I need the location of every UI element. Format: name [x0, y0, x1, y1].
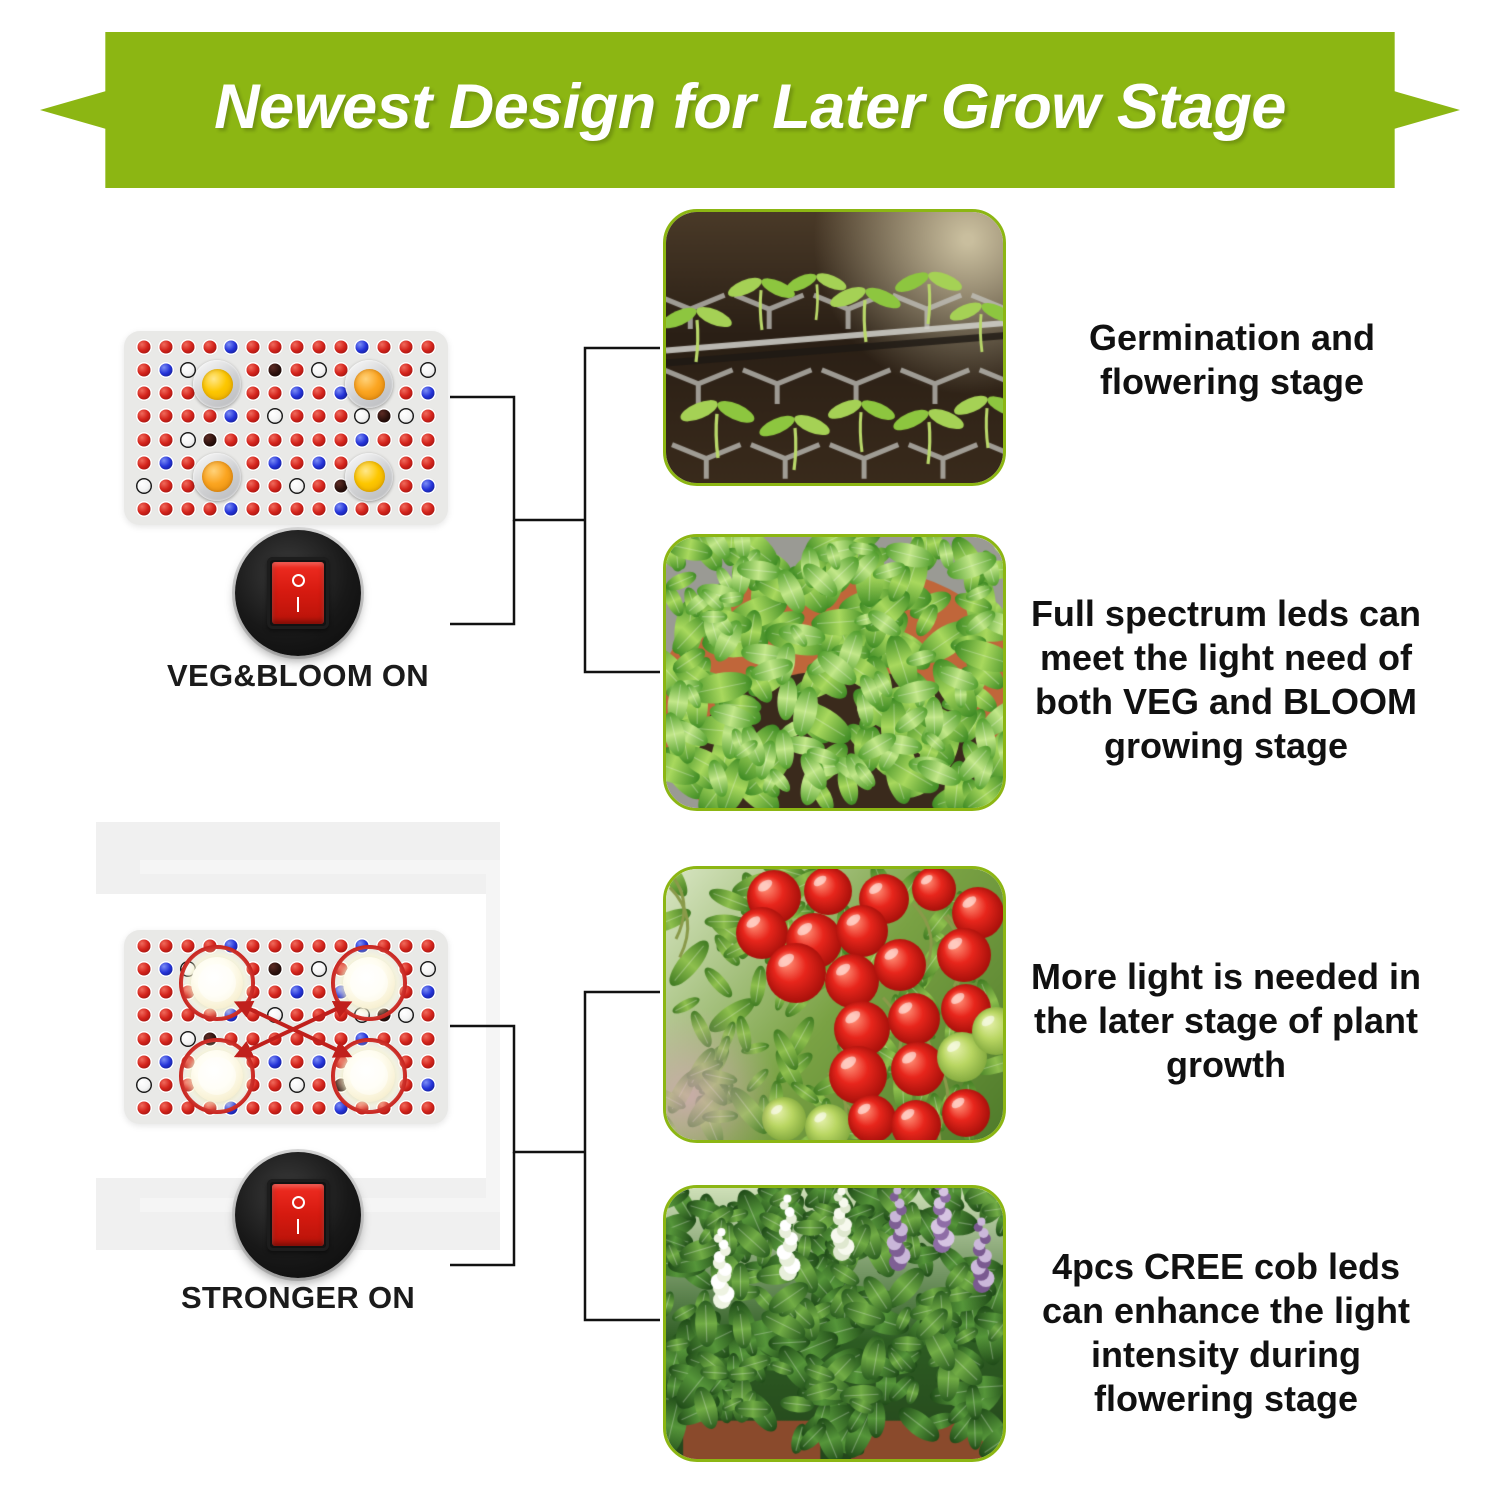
led-red — [290, 503, 303, 516]
led-red — [312, 387, 325, 400]
led-red — [312, 479, 325, 492]
led-red — [247, 387, 260, 400]
led-red — [400, 364, 413, 377]
led-red — [422, 433, 435, 446]
photo-basil-canvas — [666, 537, 1006, 811]
photo-seedlings — [663, 209, 1006, 486]
led-red — [422, 341, 435, 354]
led-red — [378, 341, 391, 354]
cob-led-emitter — [202, 369, 233, 400]
led-panel-stronger[interactable] — [124, 930, 448, 1124]
switch-label-veg-bloom: VEG&BLOOM ON — [167, 658, 429, 694]
led-red — [159, 410, 172, 423]
led-blue — [312, 456, 325, 469]
photo-tomato-canvas — [666, 869, 1006, 1143]
cob-led-emitter — [202, 461, 233, 492]
led-red — [247, 410, 260, 423]
led-blue — [290, 387, 303, 400]
led-red — [422, 410, 435, 423]
led-grid-veg-bloom — [124, 331, 448, 525]
led-white — [400, 410, 413, 423]
led-panel-veg-bloom[interactable] — [124, 331, 448, 525]
led-blue — [356, 433, 369, 446]
led-white — [269, 410, 282, 423]
led-red — [138, 364, 151, 377]
switch-on-icon — [297, 597, 300, 612]
led-white — [138, 479, 151, 492]
led-red — [290, 410, 303, 423]
led-red — [334, 341, 347, 354]
led-white — [290, 479, 303, 492]
led-red — [290, 456, 303, 469]
caption-more-light: More light is needed in the later stage … — [1016, 955, 1436, 1087]
led-red — [203, 341, 216, 354]
led-red — [269, 387, 282, 400]
led-red — [400, 503, 413, 516]
led-red — [269, 341, 282, 354]
switch-off-icon — [292, 1196, 305, 1209]
led-white — [422, 364, 435, 377]
led-red — [312, 410, 325, 423]
power-switch-veg-bloom[interactable]: VEG&BLOOM ON — [235, 530, 361, 656]
led-red — [378, 503, 391, 516]
led-white — [356, 410, 369, 423]
switch-rocker[interactable] — [272, 1184, 324, 1246]
led-red — [269, 503, 282, 516]
led-red — [400, 456, 413, 469]
power-switch-stronger[interactable]: STRONGER ON — [235, 1152, 361, 1278]
led-blue — [356, 341, 369, 354]
led-red — [138, 387, 151, 400]
led-red — [203, 503, 216, 516]
photo-flowering-basil — [663, 1185, 1006, 1462]
led-red — [269, 479, 282, 492]
led-white — [181, 433, 194, 446]
led-red — [247, 341, 260, 354]
cob-led-emitter — [354, 461, 385, 492]
led-red — [247, 364, 260, 377]
led-red — [247, 456, 260, 469]
switch-housing[interactable] — [267, 1179, 329, 1251]
led-red — [159, 433, 172, 446]
led-white — [181, 364, 194, 377]
led-red — [225, 433, 238, 446]
led-red — [138, 341, 151, 354]
led-red — [247, 433, 260, 446]
led-red — [159, 503, 172, 516]
led-red — [422, 456, 435, 469]
led-red — [312, 341, 325, 354]
led-blue — [159, 364, 172, 377]
led-red — [378, 433, 391, 446]
led-red — [334, 456, 347, 469]
led-blue — [269, 456, 282, 469]
led-red — [400, 479, 413, 492]
led-red — [181, 387, 194, 400]
cob-led — [193, 360, 241, 408]
led-red — [159, 341, 172, 354]
led-blue — [422, 479, 435, 492]
header-banner: Newest Design for Later Grow Stage — [40, 32, 1460, 188]
caption-germination: Germination and flowering stage — [1022, 316, 1442, 404]
cob-led — [345, 453, 393, 501]
caption-cree-cob: 4pcs CREE cob leds can enhance the light… — [1016, 1245, 1436, 1421]
led-red — [181, 503, 194, 516]
led-red — [334, 410, 347, 423]
switch-label-stronger: STRONGER ON — [181, 1280, 415, 1316]
led-red — [181, 456, 194, 469]
cob-led — [193, 453, 241, 501]
photo-basil — [663, 534, 1006, 811]
led-red — [247, 479, 260, 492]
page-title: Newest Design for Later Grow Stage — [40, 32, 1460, 188]
cob-led — [345, 360, 393, 408]
led-red — [159, 479, 172, 492]
led-red — [400, 341, 413, 354]
led-blue — [225, 410, 238, 423]
photo-seedlings-canvas — [666, 212, 1006, 486]
led-red — [138, 410, 151, 423]
switch-rocker[interactable] — [272, 562, 324, 624]
led-blue — [334, 503, 347, 516]
led-red — [138, 503, 151, 516]
led-blue — [225, 341, 238, 354]
cob-led-emitter — [354, 369, 385, 400]
led-red — [138, 433, 151, 446]
led-blue — [225, 503, 238, 516]
led-red — [181, 341, 194, 354]
led-ir — [378, 410, 391, 423]
switch-off-icon — [292, 574, 305, 587]
led-blue — [159, 456, 172, 469]
led-red — [400, 433, 413, 446]
led-red — [159, 387, 172, 400]
led-red — [181, 479, 194, 492]
led-ir — [269, 364, 282, 377]
photo-flowering-basil-canvas — [666, 1188, 1006, 1462]
led-red — [400, 387, 413, 400]
led-red — [290, 341, 303, 354]
led-ir — [203, 433, 216, 446]
switch-housing[interactable] — [267, 557, 329, 629]
led-red — [312, 503, 325, 516]
led-red — [290, 364, 303, 377]
photo-tomato — [663, 866, 1006, 1143]
led-red — [181, 410, 194, 423]
led-red — [290, 433, 303, 446]
led-red — [334, 364, 347, 377]
cob-highlight-arrows — [124, 930, 448, 1124]
led-red — [422, 503, 435, 516]
led-red — [312, 433, 325, 446]
caption-full-spectrum: Full spectrum leds can meet the light ne… — [1016, 592, 1436, 768]
led-red — [203, 410, 216, 423]
led-blue — [422, 387, 435, 400]
led-red — [269, 433, 282, 446]
led-white — [312, 364, 325, 377]
switch-on-icon — [297, 1219, 300, 1234]
led-red — [138, 456, 151, 469]
led-red — [247, 503, 260, 516]
led-red — [356, 503, 369, 516]
led-red — [334, 433, 347, 446]
